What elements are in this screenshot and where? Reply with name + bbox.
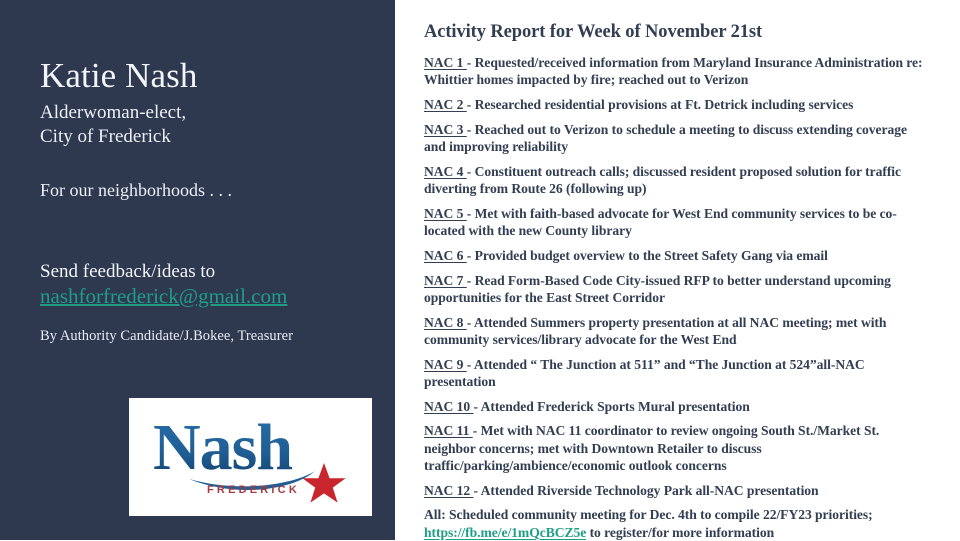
campaign-logo: Nash FREDERICK [129,398,372,516]
entry-text: - Researched residential provisions at F… [467,97,854,112]
candidate-role-line-2: City of Frederick [40,125,373,149]
entry-tag: NAC 6 [424,248,467,263]
report-entry: NAC 9 - Attended “ The Junction at 511” … [424,356,930,391]
entry-tag: NAC 2 [424,97,467,112]
entry-tag: NAC 1 [424,55,467,70]
campaign-tagline: For our neighborhoods . . . [40,179,373,202]
email-link[interactable]: nashforfrederick@gmail.com [40,284,287,309]
entry-tag: NAC 5 [424,206,467,221]
feedback-label: Send feedback/ideas to [40,260,375,283]
report-entry: NAC 3 - Reached out to Verizon to schedu… [424,121,930,156]
entry-tag: NAC 12 [424,483,474,498]
entry-tag: NAC 11 [424,423,473,438]
entry-tag: NAC 8 [424,315,467,330]
entry-text: - Attended Riverside Technology Park all… [474,483,819,498]
report-entry-list: NAC 1 - Requested/received information f… [424,54,930,541]
report-title: Activity Report for Week of November 21s… [424,21,930,43]
entry-tag: NAC 10 [424,399,474,414]
footer-prefix: All: Scheduled community meeting for Dec… [424,507,873,522]
entry-tag: NAC 7 [424,273,467,288]
entry-text: - Reached out to Verizon to schedule a m… [424,122,907,154]
entry-text: - Attended Frederick Sports Mural presen… [474,399,750,414]
activity-report-panel: Activity Report for Week of November 21s… [395,0,960,540]
facebook-event-link[interactable]: https://fb.me/e/1mQcBCZ5e [424,525,586,540]
report-entry: NAC 2 - Researched residential provision… [424,96,930,113]
entry-text: - Requested/received information from Ma… [424,55,923,87]
entry-text: - Met with NAC 11 coordinator to review … [424,423,879,473]
svg-text:FREDERICK: FREDERICK [207,484,300,496]
report-entry: NAC 6 - Provided budget overview to the … [424,247,930,264]
entry-tag: NAC 3 [424,122,467,137]
report-entry: NAC 10 - Attended Frederick Sports Mural… [424,398,930,415]
slide-root: Katie Nash Alderwoman-elect, City of Fre… [0,0,960,540]
entry-text: - Attended “ The Junction at 511” and “T… [424,357,865,389]
report-entry: NAC 8 - Attended Summers property presen… [424,314,930,349]
report-entry: NAC 12 - Attended Riverside Technology P… [424,482,930,499]
report-entry: NAC 1 - Requested/received information f… [424,54,930,89]
entry-text: - Attended Summers property presentation… [424,315,886,347]
authority-disclaimer: By Authority Candidate/J.Bokee, Treasure… [40,328,293,345]
candidate-role-line-1: Alderwoman-elect, [40,101,373,125]
report-footer-entry: All: Scheduled community meeting for Dec… [424,506,930,541]
identity-block: Katie Nash Alderwoman-elect, City of Fre… [40,58,373,202]
entry-text: - Constituent outreach calls; discussed … [424,164,901,196]
nash-frederick-logo-icon: Nash FREDERICK [143,407,358,507]
entry-tag: NAC 4 [424,164,467,179]
footer-suffix: to register/for more information [586,525,774,540]
left-identity-panel: Katie Nash Alderwoman-elect, City of Fre… [0,0,395,540]
entry-tag: NAC 9 [424,357,467,372]
report-entry: NAC 11 - Met with NAC 11 coordinator to … [424,422,930,474]
report-entry: NAC 4 - Constituent outreach calls; disc… [424,163,930,198]
report-entry: NAC 5 - Met with faith-based advocate fo… [424,205,930,240]
svg-text:Nash: Nash [153,411,292,484]
entry-text: - Provided budget overview to the Street… [467,248,828,263]
candidate-name: Katie Nash [40,58,373,95]
feedback-block: Send feedback/ideas to nashforfrederick@… [40,260,375,309]
entry-text: - Read Form-Based Code City-issued RFP t… [424,273,891,305]
report-entry: NAC 7 - Read Form-Based Code City-issued… [424,272,930,307]
entry-text: - Met with faith-based advocate for West… [424,206,897,238]
